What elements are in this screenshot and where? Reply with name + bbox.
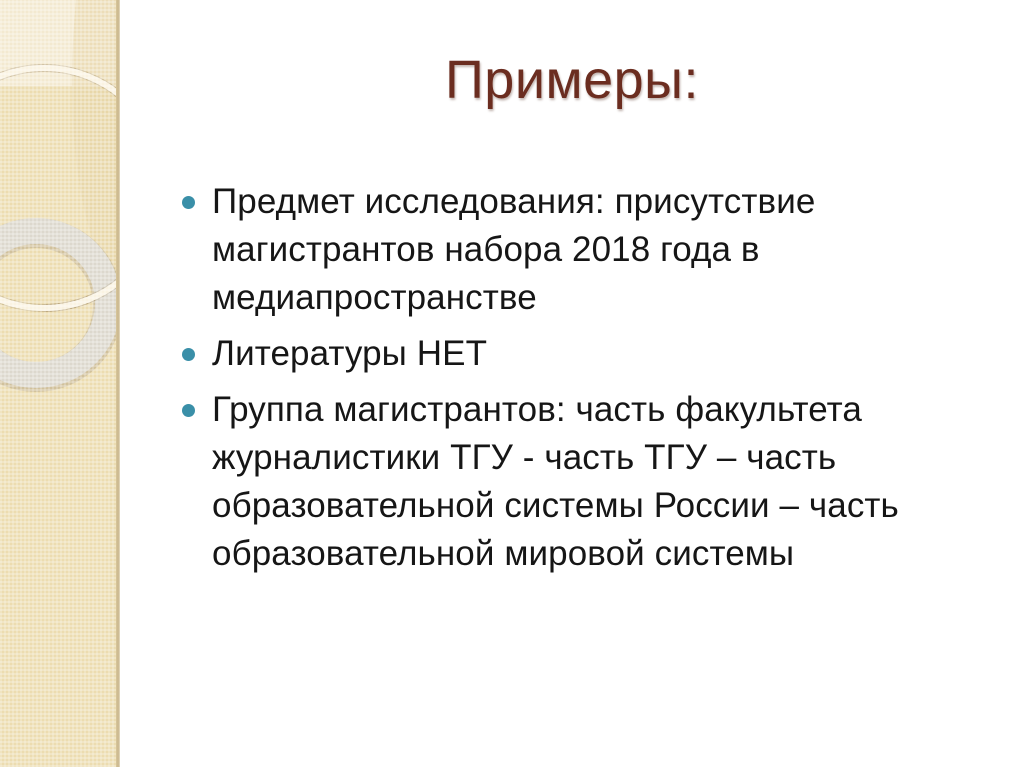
slide-body-list: Предмет исследования: присутствие магист…: [176, 178, 946, 578]
list-item-text: Предмет исследования: присутствие магист…: [212, 178, 946, 322]
bullet-dot-icon: [182, 348, 195, 361]
list-item-text: Группа магистрантов: часть факультета жу…: [212, 386, 946, 578]
presentation-slide: Примеры: Предмет исследования: присутств…: [0, 0, 1024, 767]
bullet-dot-icon: [182, 404, 195, 417]
bullet-dot-icon: [182, 196, 195, 209]
list-item: Литературы НЕТ: [176, 330, 946, 378]
decorative-sidebar: [0, 0, 120, 767]
sidebar-texture-overlay: [0, 0, 120, 767]
list-item: Группа магистрантов: часть факультета жу…: [176, 386, 946, 578]
sidebar-edge-stripe: [116, 0, 120, 767]
list-item: Предмет исследования: присутствие магист…: [176, 178, 946, 322]
list-item-text: Литературы НЕТ: [212, 330, 946, 378]
slide-title: Примеры:: [120, 52, 1024, 109]
